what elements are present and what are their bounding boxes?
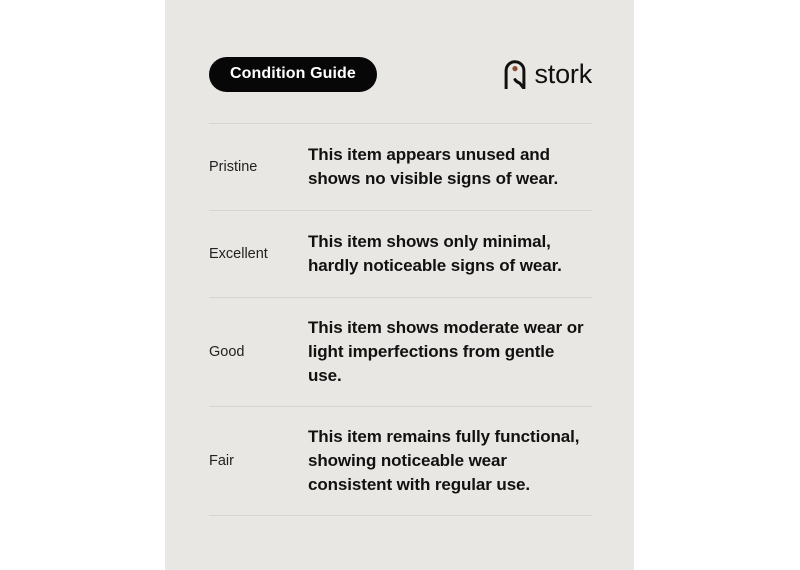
condition-description: This item remains fully functional, show… xyxy=(308,425,592,497)
page-root: Condition Guide stork Pristine This item… xyxy=(0,0,800,570)
brand-lockup: stork xyxy=(503,59,592,89)
condition-label: Excellent xyxy=(209,245,308,264)
table-row: Good This item shows moderate wear or li… xyxy=(209,298,592,406)
card-header: Condition Guide stork xyxy=(209,56,592,92)
brand-wordmark: stork xyxy=(534,61,592,88)
condition-label: Good xyxy=(209,343,308,362)
table-row: Pristine This item appears unused and sh… xyxy=(209,124,592,210)
stork-logo-eye-icon xyxy=(513,66,518,71)
condition-description: This item shows only minimal, hardly not… xyxy=(308,230,592,278)
condition-description: This item shows moderate wear or light i… xyxy=(308,316,592,388)
condition-guide-badge: Condition Guide xyxy=(209,57,377,92)
condition-label: Pristine xyxy=(209,158,308,177)
condition-label: Fair xyxy=(209,452,308,471)
stork-arch-logo-icon xyxy=(503,59,527,89)
divider xyxy=(209,515,592,516)
condition-description: This item appears unused and shows no vi… xyxy=(308,143,592,191)
table-row: Excellent This item shows only minimal, … xyxy=(209,211,592,297)
table-row: Fair This item remains fully functional,… xyxy=(209,407,592,515)
condition-guide-card: Condition Guide stork Pristine This item… xyxy=(165,0,634,570)
condition-guide-table: Pristine This item appears unused and sh… xyxy=(209,123,592,516)
